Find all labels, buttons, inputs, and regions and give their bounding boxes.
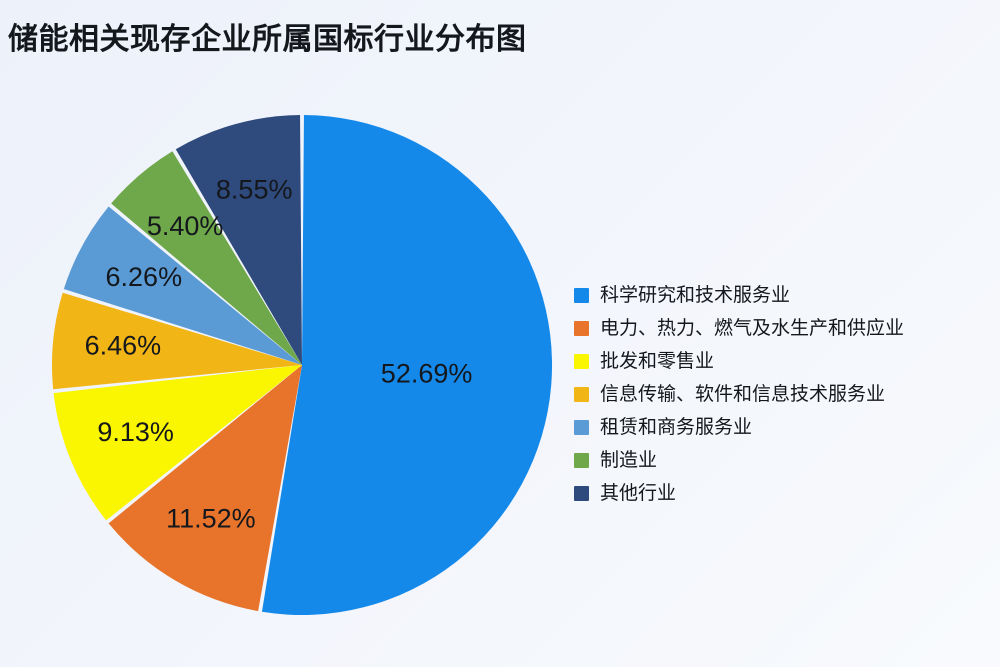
legend-swatch-icon — [574, 387, 589, 402]
pie-slice-label: 6.46% — [85, 331, 162, 361]
pie-svg: 52.69%11.52%9.13%6.46%6.26%5.40%8.55% — [0, 0, 620, 667]
legend-item-label: 信息传输、软件和信息技术服务业 — [600, 385, 885, 404]
legend-swatch-icon — [574, 288, 589, 303]
legend-item-label: 批发和零售业 — [600, 352, 714, 371]
pie-plot-area: 52.69%11.52%9.13%6.46%6.26%5.40%8.55% — [0, 0, 620, 667]
legend-item[interactable]: 电力、热力、燃气及水生产和供应业 — [574, 316, 904, 340]
legend-swatch-icon — [574, 354, 589, 369]
legend-item[interactable]: 科学研究和技术服务业 — [574, 283, 904, 307]
pie-slice-label: 9.13% — [97, 417, 174, 447]
legend-item-label: 科学研究和技术服务业 — [600, 286, 790, 305]
chart-legend: 科学研究和技术服务业电力、热力、燃气及水生产和供应业批发和零售业信息传输、软件和… — [574, 283, 904, 505]
legend-item[interactable]: 租赁和商务服务业 — [574, 415, 904, 439]
legend-swatch-icon — [574, 321, 589, 336]
pie-slice-label: 8.55% — [216, 175, 293, 205]
legend-item-label: 电力、热力、燃气及水生产和供应业 — [600, 319, 904, 338]
legend-item[interactable]: 信息传输、软件和信息技术服务业 — [574, 382, 904, 406]
legend-item-label: 租赁和商务服务业 — [600, 418, 752, 437]
pie-slice-label: 52.69% — [381, 359, 473, 389]
pie-slice-label: 5.40% — [147, 211, 224, 241]
legend-item[interactable]: 批发和零售业 — [574, 349, 904, 373]
pie-slice-label: 6.26% — [106, 262, 183, 292]
pie-chart-container: 储能相关现存企业所属国标行业分布图 52.69%11.52%9.13%6.46%… — [0, 0, 1000, 667]
legend-swatch-icon — [574, 453, 589, 468]
legend-swatch-icon — [574, 420, 589, 435]
legend-item[interactable]: 其他行业 — [574, 481, 904, 505]
pie-slice-label: 11.52% — [166, 503, 256, 533]
legend-item-label: 制造业 — [600, 451, 657, 470]
pie-slice-group — [52, 115, 552, 615]
legend-item[interactable]: 制造业 — [574, 448, 904, 472]
legend-item-label: 其他行业 — [600, 484, 676, 503]
legend-swatch-icon — [574, 486, 589, 501]
